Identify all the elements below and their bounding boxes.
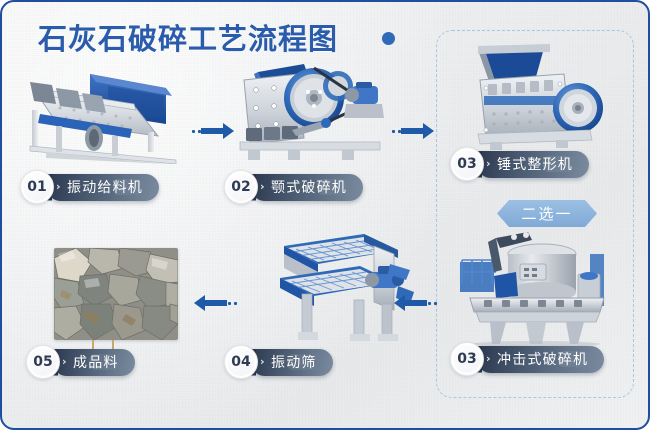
stage-05-label-group[interactable]: 05 › 成品料	[26, 345, 135, 379]
finished-material-icon	[54, 248, 178, 340]
chevron-right-icon: ›	[486, 352, 492, 365]
stage-03b-label-group[interactable]: 03 › 冲击式破碎机	[450, 342, 604, 376]
arrow-dots	[192, 130, 201, 133]
stage-01-number: 01	[20, 170, 54, 204]
stage-01-pill[interactable]: › 振动给料机	[47, 174, 159, 201]
stage-03b-label: 冲击式破碎机	[497, 349, 588, 369]
stage-02-number: 02	[224, 170, 258, 204]
chevron-right-icon: ›	[260, 180, 266, 193]
choose-one-badge: 二选一	[497, 200, 597, 227]
vibrating-screen-icon	[278, 224, 430, 342]
stage-01-label-group[interactable]: 01 › 振动给料机	[20, 170, 159, 204]
chevron-right-icon: ›	[260, 355, 266, 368]
stage-05-number: 05	[26, 345, 60, 379]
stage-02-pill[interactable]: › 颚式破碎机	[251, 174, 363, 201]
stage-02-label-group[interactable]: 02 › 颚式破碎机	[224, 170, 363, 204]
arrow-left-icon	[394, 294, 428, 312]
stage-03a-label: 锤式整形机	[497, 154, 573, 174]
jaw-crusher-icon	[230, 46, 390, 164]
chevron-right-icon: ›	[56, 180, 62, 193]
stage-04-label-group[interactable]: 04 › 振动筛	[224, 345, 333, 379]
stage-01-label: 振动给料机	[67, 177, 143, 197]
arrow-jaw-to-hammer	[392, 122, 435, 140]
arrow-left-icon	[194, 294, 228, 312]
stage-03a-pill[interactable]: › 锤式整形机	[477, 151, 589, 178]
stage-03a-label-group[interactable]: 03 › 锤式整形机	[450, 147, 589, 181]
stage-03b-number: 03	[450, 342, 484, 376]
stage-05-label: 成品料	[73, 352, 119, 372]
page-title: 石灰石破碎工艺流程图	[38, 16, 338, 58]
arrow-screen-to-product	[194, 294, 237, 312]
stage-04-pill[interactable]: › 振动筛	[251, 349, 333, 376]
hammer-shaper-icon	[460, 40, 612, 152]
stage-04-label: 振动筛	[271, 352, 317, 372]
stage-02-label: 颚式破碎机	[271, 177, 347, 197]
chevron-right-icon: ›	[62, 355, 68, 368]
arrow-dots	[428, 302, 437, 305]
arrow-right-icon	[401, 122, 435, 140]
arrow-feeder-to-jaw	[192, 122, 235, 140]
flowchart-canvas: 石灰石破碎工艺流程图	[0, 0, 650, 430]
chevron-right-icon: ›	[486, 157, 492, 170]
stage-03a-number: 03	[450, 147, 484, 181]
title-accent-dot	[382, 32, 395, 45]
arrow-right-icon	[201, 122, 235, 140]
vibrating-feeder-icon	[16, 52, 186, 164]
arrow-vsi-to-screen	[394, 294, 437, 312]
arrow-dots	[392, 130, 401, 133]
stage-05-pill[interactable]: › 成品料	[53, 349, 135, 376]
stage-04-number: 04	[224, 345, 258, 379]
arrow-dots	[228, 302, 237, 305]
stage-03b-pill[interactable]: › 冲击式破碎机	[477, 346, 604, 373]
impact-crusher-icon	[450, 228, 622, 346]
